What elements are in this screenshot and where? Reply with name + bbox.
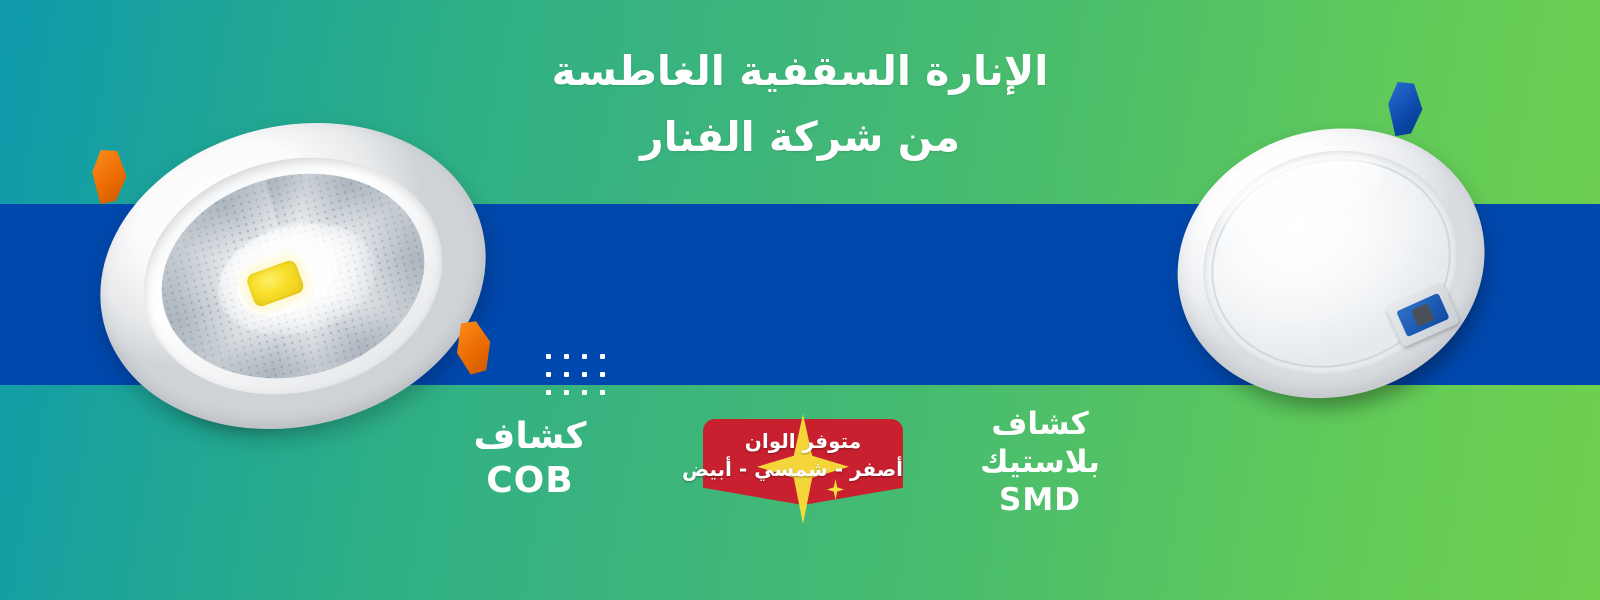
product-label-cob: كشاف COB [420,415,640,503]
dot-grid-dot [564,372,569,377]
dot-grid-dot [564,390,569,395]
spring-clip-blue-icon [1387,81,1423,136]
colors-available-badge: متوفر الوان أصفر - شمسي - أبيض [703,419,903,505]
dot-grid-dot [546,390,551,395]
product-label-smd-arabic-2: بلاستيك [940,443,1140,481]
dot-grid-pattern [546,354,610,404]
badge-line-2: أصفر - شمسي - أبيض [703,455,903,483]
smd-plastic-downlight-image [1145,93,1520,448]
dot-grid-dot [600,390,605,395]
dot-grid-dot [582,390,587,395]
dot-grid-dot [564,354,569,359]
product-label-smd-arabic-1: كشاف [940,405,1140,443]
product-label-smd-english: SMD [940,481,1140,519]
product-label-cob-arabic: كشاف [420,415,640,459]
badge-line-1: متوفر الوان [703,427,903,455]
headline-line-1: الإنارة السقفية الغاطسة [0,38,1600,104]
spring-clip-orange-top-icon [91,148,129,204]
promo-banner: الإنارة السقفية الغاطسة من شركة الفنار ك… [0,0,1600,600]
product-label-smd: كشاف بلاستيك SMD [940,405,1140,519]
dot-grid-dot [600,372,605,377]
cob-downlight-image [68,83,519,468]
dot-grid-dot [546,372,551,377]
dot-grid-dot [600,354,605,359]
badge-text: متوفر الوان أصفر - شمسي - أبيض [703,427,903,483]
dot-grid-dot [582,372,587,377]
product-label-cob-english: COB [420,459,640,503]
dot-grid-dot [546,354,551,359]
dot-grid-dot [582,354,587,359]
